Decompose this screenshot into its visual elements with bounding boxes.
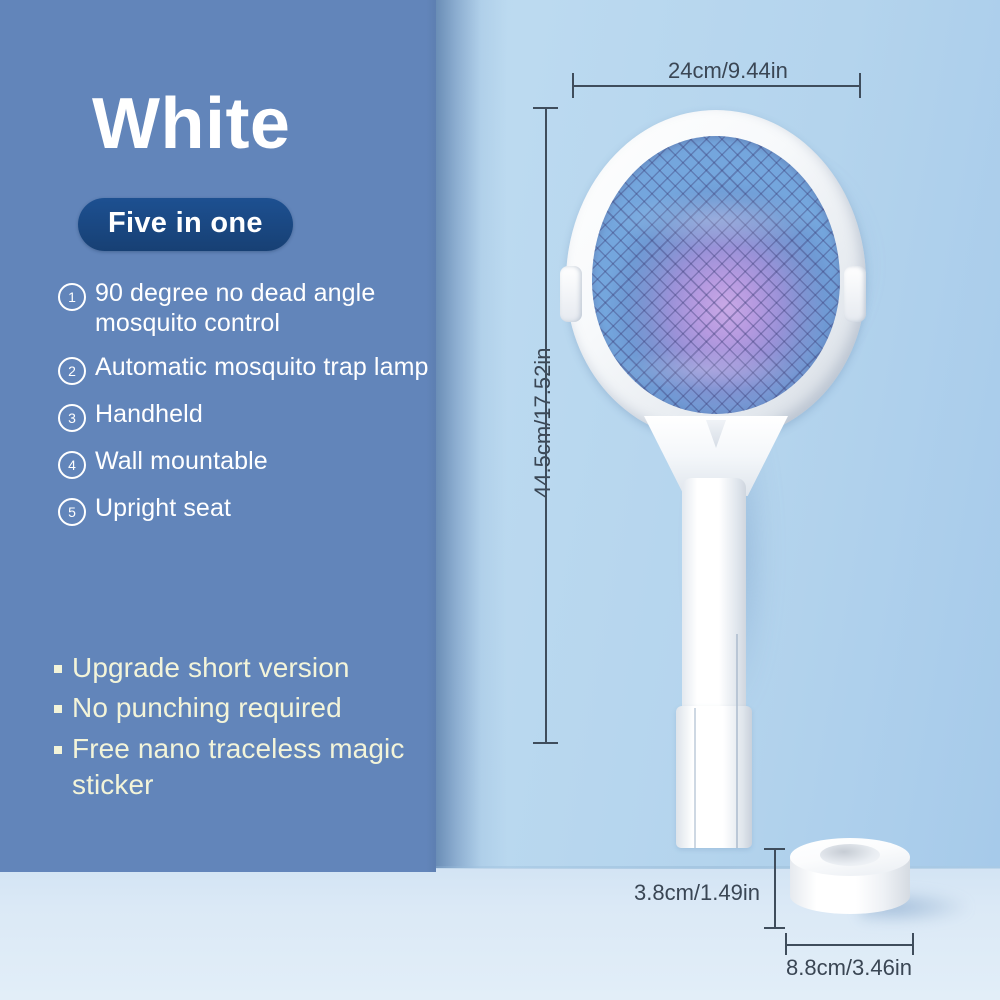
mosquito-swatter-racket [560, 98, 880, 768]
racket-height-label: 44.5cm/17.52in [530, 348, 556, 498]
status-badge: Five in one [78, 198, 293, 251]
base-width-tick-right [912, 933, 914, 955]
circled-number-icon: 4 [58, 451, 86, 479]
wall-corner-shadow [435, 0, 507, 872]
list-item: Free nano traceless magic sticker [54, 731, 434, 804]
circled-number-icon: 5 [58, 498, 86, 526]
feature-label: Handheld [95, 399, 203, 429]
racket-width-tick-right [859, 73, 861, 98]
list-item: 4 Wall mountable [58, 446, 430, 479]
page-title: White [92, 88, 290, 160]
list-item: 2 Automatic mosquito trap lamp [58, 352, 430, 385]
base-width-tick-left [785, 933, 787, 955]
square-bullet-icon [54, 665, 62, 673]
base-width-line [785, 944, 913, 946]
square-bullet-icon [54, 705, 62, 713]
hinge-left [560, 266, 582, 322]
uv-glow-sheen [592, 136, 840, 414]
base-width-label: 8.8cm/3.46in [786, 955, 912, 981]
bullet-list: Upgrade short version No punching requir… [54, 650, 434, 808]
floor-wall-seam [435, 866, 1000, 869]
racket-height-tick-top [533, 107, 558, 109]
feature-list: 1 90 degree no dead angle mosquito contr… [58, 278, 430, 540]
list-item: 1 90 degree no dead angle mosquito contr… [58, 278, 430, 338]
list-item: 5 Upright seat [58, 493, 430, 526]
list-item: 3 Handheld [58, 399, 430, 432]
base-height-tick-bottom [764, 927, 785, 929]
racket-height-tick-bottom [533, 742, 558, 744]
feature-label: 90 degree no dead angle mosquito control [95, 278, 430, 338]
handle-seam [736, 634, 738, 848]
info-panel: White Five in one 1 90 degree no dead an… [0, 0, 436, 872]
racket-height-line [545, 108, 547, 744]
base-height-label: 3.8cm/1.49in [634, 880, 760, 906]
feature-label: Upright seat [95, 493, 231, 523]
square-bullet-icon [54, 746, 62, 754]
base-height-tick-top [764, 848, 785, 850]
bullet-label: Upgrade short version [72, 650, 350, 686]
grip-seam [694, 708, 696, 848]
bullet-label: No punching required [72, 690, 342, 726]
racket-width-tick-left [572, 73, 574, 98]
racket-width-line [572, 85, 860, 87]
product-infographic: White Five in one 1 90 degree no dead an… [0, 0, 1000, 1000]
list-item: No punching required [54, 690, 434, 726]
racket-grip [676, 706, 752, 848]
feature-label: Automatic mosquito trap lamp [95, 352, 429, 382]
base-recess [820, 844, 880, 866]
base-height-line [774, 848, 776, 928]
circled-number-icon: 2 [58, 357, 86, 385]
list-item: Upgrade short version [54, 650, 434, 686]
feature-label: Wall mountable [95, 446, 268, 476]
hinge-right [844, 266, 866, 322]
racket-mesh-area [592, 136, 840, 414]
circled-number-icon: 3 [58, 404, 86, 432]
wall-mount-base [790, 838, 910, 924]
racket-head-frame [566, 110, 866, 440]
circled-number-icon: 1 [58, 283, 86, 311]
racket-width-label: 24cm/9.44in [668, 58, 788, 84]
bullet-label: Free nano traceless magic sticker [72, 731, 434, 804]
